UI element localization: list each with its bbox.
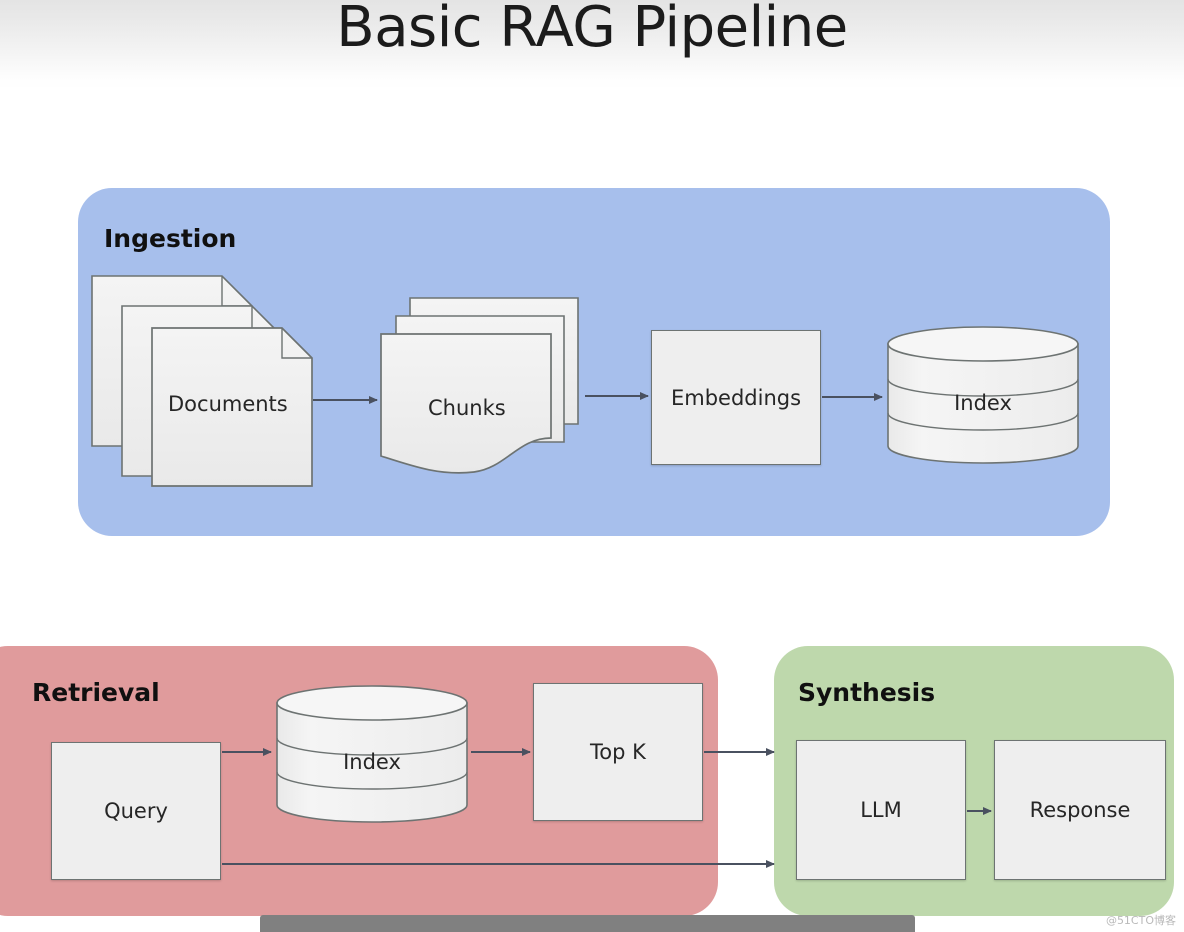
group-label-synthesis: Synthesis [798,678,935,707]
node-index-ingestion[interactable]: Index [885,325,1081,465]
node-label-llm: LLM [860,798,902,822]
diagram-canvas: Basic RAG Pipeline Ingestion Documents [0,0,1184,932]
bottom-scrollbar[interactable] [260,915,915,932]
node-response[interactable]: Response [994,740,1166,880]
node-index-retrieval[interactable]: Index [274,684,470,824]
node-query[interactable]: Query [51,742,221,880]
node-chunks[interactable]: Chunks [378,296,590,478]
group-label-retrieval: Retrieval [32,678,160,707]
node-label-embeddings: Embeddings [671,386,801,410]
node-label-query: Query [104,799,168,823]
node-label-index-ingestion: Index [885,391,1081,415]
node-top-k[interactable]: Top K [533,683,703,821]
node-llm[interactable]: LLM [796,740,966,880]
watermark: @51CTO博客 [1106,912,1176,928]
node-documents[interactable]: Documents [90,270,322,490]
node-label-response: Response [1030,798,1131,822]
node-label-chunks: Chunks [428,396,506,420]
node-embeddings[interactable]: Embeddings [651,330,821,465]
node-label-index-retrieval: Index [274,750,470,774]
node-label-documents: Documents [168,392,288,416]
node-label-top-k: Top K [590,740,646,764]
page-title: Basic RAG Pipeline [0,0,1184,60]
group-label-ingestion: Ingestion [104,224,236,253]
